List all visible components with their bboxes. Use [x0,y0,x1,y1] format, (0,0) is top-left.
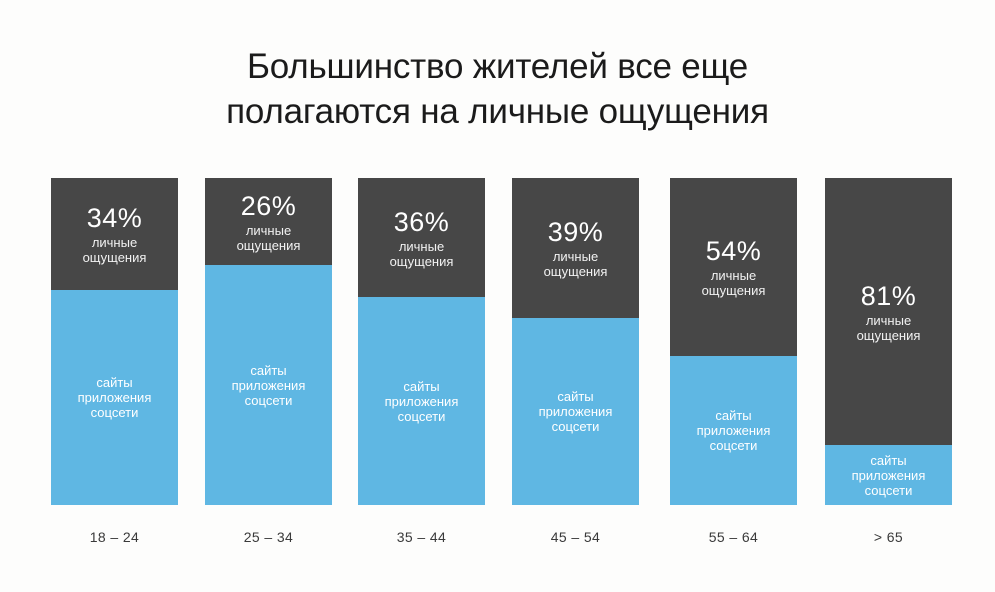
bar-segment-label: личные ощущения [83,235,147,265]
category-axis: 18 – 24 25 – 34 35 – 44 45 – 54 55 – 64 … [0,527,995,555]
bar-segment-label: сайты приложения соцсети [232,363,306,408]
bar-segment-sites-apps-social: сайты приложения соцсети [51,290,178,505]
axis-tick-over-65: > 65 [825,527,952,547]
bar-segment-sites-apps-social: сайты приложения соцсети [825,445,952,505]
chart-title: Большинство жителей все еще полагаются н… [0,44,995,134]
bar-segment-sites-apps-social: сайты приложения соцсети [670,356,797,505]
bar-segment-personal-feeling: 34% личные ощущения [51,178,178,290]
bar-segment-label: сайты приложения соцсети [385,379,459,424]
bar-percent-label: 36% [394,207,450,237]
bar-column-18-24: 34% личные ощущения сайты приложения соц… [51,178,178,505]
bar-segment-label: сайты приложения соцсети [78,375,152,420]
bar-percent-label: 39% [548,217,604,247]
bar-segment-label: личные ощущения [237,223,301,253]
bar-segment-sites-apps-social: сайты приложения соцсети [358,297,485,505]
axis-tick-45-54: 45 – 54 [512,527,639,547]
bar-segment-label: личные ощущения [702,268,766,298]
bar-segment-label: личные ощущения [544,249,608,279]
bar-segment-sites-apps-social: сайты приложения соцсети [205,265,332,505]
bar-segment-label: сайты приложения соцсети [697,408,771,453]
bar-percent-label: 26% [241,191,297,221]
bar-segment-personal-feeling: 39% личные ощущения [512,178,639,318]
bar-column-25-34: 26% личные ощущения сайты приложения соц… [205,178,332,505]
bar-segment-label: личные ощущения [390,239,454,269]
bar-column-55-64: 54% личные ощущения сайты приложения соц… [670,178,797,505]
bar-percent-label: 34% [87,203,143,233]
bar-column-over-65: 81% личные ощущения сайты приложения соц… [825,178,952,505]
bar-segment-personal-feeling: 54% личные ощущения [670,178,797,356]
bar-segment-sites-apps-social: сайты приложения соцсети [512,318,639,505]
bar-column-35-44: 36% личные ощущения сайты приложения соц… [358,178,485,505]
axis-tick-25-34: 25 – 34 [205,527,332,547]
bar-segment-label: сайты приложения соцсети [539,389,613,434]
bar-percent-label: 54% [706,236,762,266]
chart-container: Большинство жителей все еще полагаются н… [0,0,995,592]
axis-tick-35-44: 35 – 44 [358,527,485,547]
bar-segment-personal-feeling: 36% личные ощущения [358,178,485,297]
bar-segment-label: личные ощущения [857,313,921,343]
axis-tick-18-24: 18 – 24 [51,527,178,547]
bar-column-45-54: 39% личные ощущения сайты приложения соц… [512,178,639,505]
bar-segment-personal-feeling: 26% личные ощущения [205,178,332,265]
bar-segment-personal-feeling: 81% личные ощущения [825,178,952,445]
axis-tick-55-64: 55 – 64 [670,527,797,547]
bar-segment-label: сайты приложения соцсети [852,453,926,498]
plot-area: 34% личные ощущения сайты приложения соц… [0,178,995,505]
bar-percent-label: 81% [861,281,917,311]
